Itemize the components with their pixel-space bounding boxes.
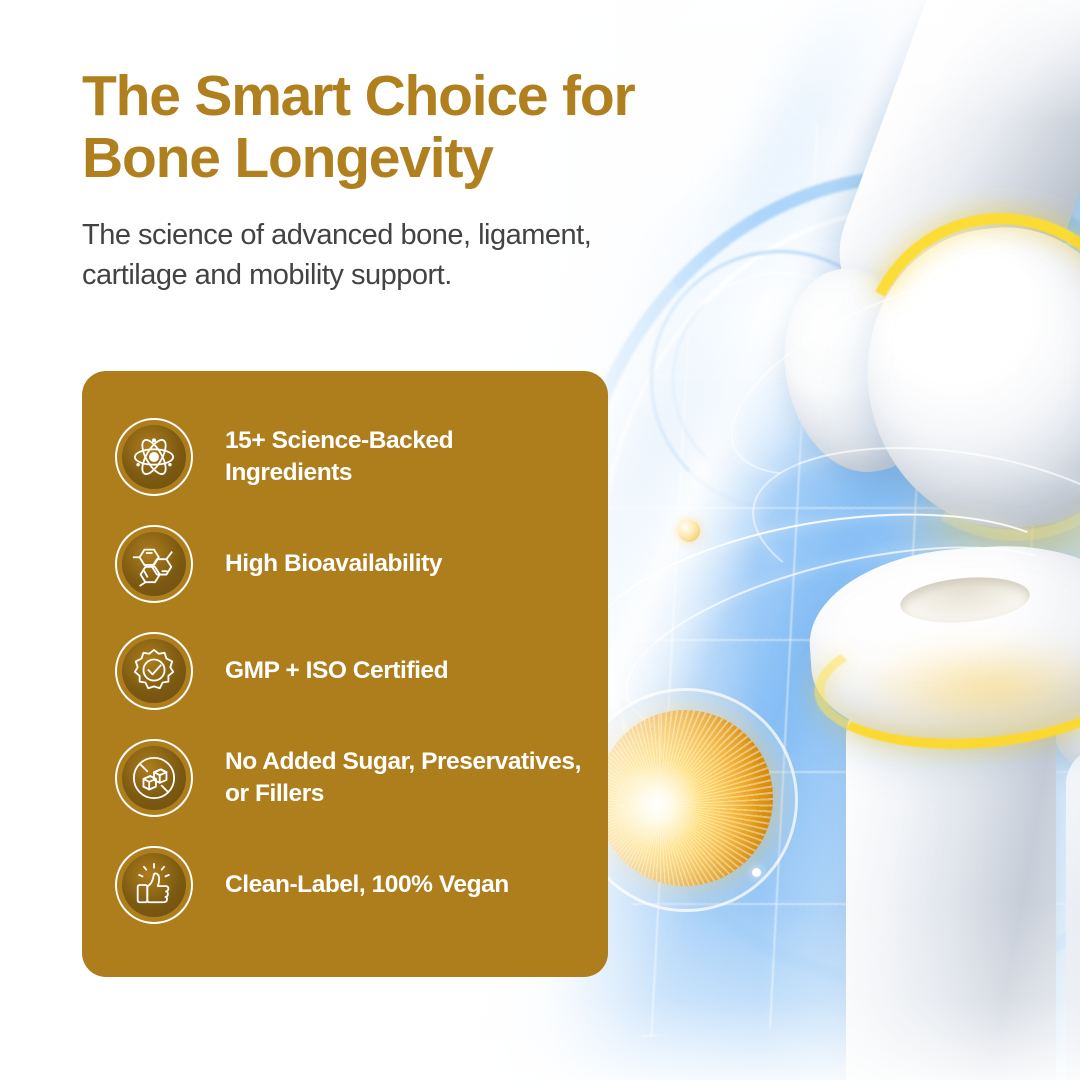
- list-item: GMP + ISO Certified: [115, 617, 585, 724]
- list-item-label: No Added Sugar, Preservatives, or Filler…: [225, 746, 585, 810]
- list-item: No Added Sugar, Preservatives, or Filler…: [115, 724, 585, 831]
- list-item-label: High Bioavailability: [225, 548, 442, 580]
- list-item: Clean-Label, 100% Vegan: [115, 831, 585, 938]
- list-item-label: Clean-Label, 100% Vegan: [225, 869, 509, 901]
- page-subtitle: The science of advanced bone, ligament, …: [82, 215, 682, 295]
- benefits-card: 15+ Science-Backed Ingredients: [82, 371, 608, 977]
- molecule-icon: [115, 525, 193, 603]
- certified-badge-icon: [115, 632, 193, 710]
- poster-canvas: The Smart Choice for Bone Longevity The …: [0, 0, 1080, 1080]
- content-layer: The Smart Choice for Bone Longevity The …: [0, 0, 1080, 1080]
- page-title: The Smart Choice for Bone Longevity: [82, 66, 702, 189]
- thumbs-up-icon: [115, 846, 193, 924]
- benefits-list: 15+ Science-Backed Ingredients: [115, 403, 585, 938]
- list-item-label: 15+ Science-Backed Ingredients: [225, 425, 585, 489]
- no-sugar-icon: [115, 739, 193, 817]
- list-item: High Bioavailability: [115, 510, 585, 617]
- list-item: 15+ Science-Backed Ingredients: [115, 403, 585, 510]
- atom-icon: [115, 418, 193, 496]
- list-item-label: GMP + ISO Certified: [225, 655, 448, 687]
